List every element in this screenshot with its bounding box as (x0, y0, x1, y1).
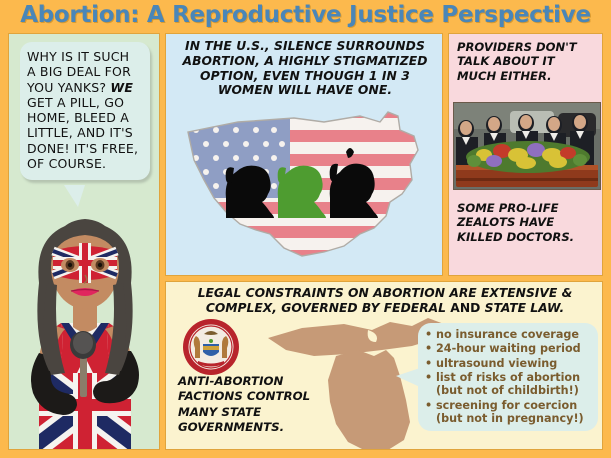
us-map-with-silhouettes-artwork (174, 106, 436, 266)
factions-line-2: FACTIONS CONTROL (178, 389, 310, 403)
speech-bubble-british-woman: WHY IS IT SUCH A BIG DEAL FOR YOU YANKS?… (20, 42, 150, 180)
usmap-caption-line-3: OPTION, EVEN THOUGH 1 IN 3 (200, 69, 410, 83)
michigan-great-seal-icon (182, 318, 240, 376)
zealots-line-1: SOME PRO-LIFE (457, 201, 559, 215)
legal-caption-line-1: LEGAL CONSTRAINTS ON ABORTION ARE EXTENS… (198, 286, 573, 300)
zealots-caption: SOME PRO-LIFE ZEALOTS HAVE KILLED DOCTOR… (457, 201, 599, 244)
providers-caption-line-1: PROVIDERS DON'T (457, 40, 577, 54)
factions-caption: ANTI-ABORTION FACTIONS CONTROL MANY STAT… (178, 374, 353, 435)
funeral-photo (453, 102, 601, 190)
speech-line-6: LITTLE, AND IT'S (27, 125, 133, 140)
providers-caption-line-2: TALK ABOUT IT (457, 54, 555, 68)
speech-line-3a: YOU YANKS? (27, 80, 110, 95)
silhouette-middle (278, 166, 326, 218)
panel-providers: PROVIDERS DON'T TALK ABOUT IT MUCH EITHE… (448, 33, 603, 276)
panel-legal-constraints: LEGAL CONSTRAINTS ON ABORTION ARE EXTENS… (165, 281, 603, 450)
legal-caption-line-2a: COMPLEX, GOVERNED BY FEDERAL (206, 301, 450, 315)
legal-constraints-caption: LEGAL CONSTRAINTS ON ABORTION ARE EXTENS… (172, 286, 598, 316)
silhouette-left (226, 166, 274, 218)
factions-line-4: GOVERNMENTS. (178, 420, 284, 434)
speech-line-5: HOME, BLEED A (27, 110, 129, 125)
restriction-sublabel: (but not in pregnancy!) (436, 412, 594, 425)
speech-line-7: DONE! IT'S FREE, (27, 141, 138, 156)
restrictions-bubble-tail (396, 368, 420, 387)
speech-line-2: A BIG DEAL FOR (27, 64, 131, 79)
list-item: list of risks of abortion (but not of ch… (436, 371, 594, 398)
restriction-label: screening for coercion (436, 399, 577, 412)
british-woman-illustration (9, 187, 160, 449)
page-title: Abortion: A Reproductive Justice Perspec… (20, 2, 591, 28)
list-item: ultrasound viewing (436, 357, 594, 370)
funeral-photo-artwork (454, 103, 600, 189)
speech-line-1: WHY IS IT SUCH (27, 49, 129, 64)
legal-caption-line-2b: STATE LAW. (480, 301, 564, 315)
restriction-label: list of risks of abortion (436, 371, 580, 384)
restriction-label: 24-hour waiting period (436, 342, 581, 355)
list-item: no insurance coverage (436, 328, 594, 341)
panel-british-speaker: WHY IS IT SUCH A BIG DEAL FOR YOU YANKS?… (8, 33, 160, 450)
zealots-line-3: KILLED DOCTORS. (457, 230, 574, 244)
restriction-sublabel: (but not of childbirth!) (436, 384, 594, 397)
restrictions-list: no insurance coverage 24-hour waiting pe… (424, 328, 594, 425)
factions-line-3: MANY STATE (178, 405, 261, 419)
poster-title-banner: Abortion: A Reproductive Justice Perspec… (0, 0, 611, 30)
panel-us-map: IN THE U.S., SILENCE SURROUNDS ABORTION,… (165, 33, 443, 276)
usmap-caption-line-4: WOMEN WILL HAVE ONE. (218, 83, 392, 97)
restriction-label: no insurance coverage (436, 328, 579, 341)
us-map-caption: IN THE U.S., SILENCE SURROUNDS ABORTION,… (172, 39, 438, 98)
restriction-label: ultrasound viewing (436, 357, 557, 370)
speech-line-4: GET A PILL, GO (27, 95, 124, 110)
zealots-line-2: ZEALOTS HAVE (457, 215, 554, 229)
usmap-caption-line-1: IN THE U.S., SILENCE SURROUNDS (185, 39, 425, 53)
legal-caption-emphasis: AND (450, 301, 480, 315)
providers-caption: PROVIDERS DON'T TALK ABOUT IT MUCH EITHE… (457, 40, 599, 83)
restrictions-speech-bubble: no insurance coverage 24-hour waiting pe… (418, 323, 598, 431)
list-item: screening for coercion (but not in pregn… (436, 399, 594, 426)
factions-line-1: ANTI-ABORTION (178, 374, 283, 388)
usmap-caption-line-2: ABORTION, A HIGHLY STIGMATIZED (182, 54, 427, 68)
speech-bubble-text: WHY IS IT SUCH A BIG DEAL FOR YOU YANKS?… (27, 49, 143, 171)
speech-line-3-emphasis: WE (110, 80, 133, 95)
list-item: 24-hour waiting period (436, 342, 594, 355)
providers-caption-line-3: MUCH EITHER. (457, 69, 552, 83)
comic-poster: Abortion: A Reproductive Justice Perspec… (0, 0, 611, 458)
speech-line-8: OF COURSE. (27, 156, 106, 171)
